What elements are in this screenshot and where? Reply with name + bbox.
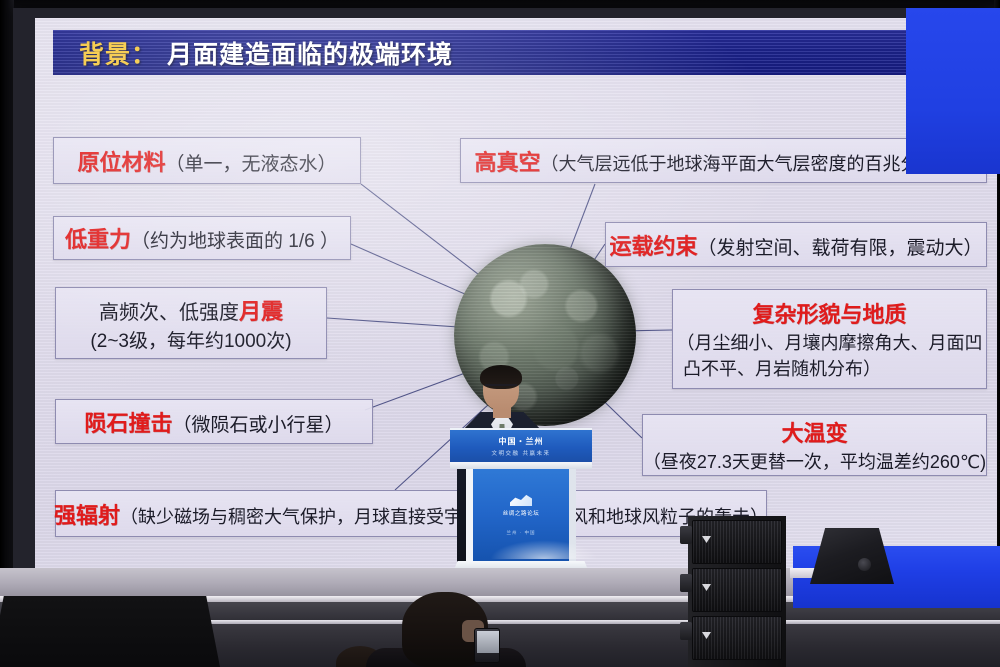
audience-silhouette — [0, 596, 220, 667]
callout-strong-radiation: 强辐射（缺少磁场与稠密大气保护，月球直接受宇宙射线、太阳风和地球风粒子的轰击） — [55, 490, 767, 537]
callout-detail: （约为地球表面的 1/6 ） — [131, 231, 339, 252]
speaker-rigging — [680, 622, 692, 640]
callout-line-prefix: 高频次、低强度 — [99, 302, 239, 324]
podium-top-line-1: 中国・兰州 — [499, 436, 544, 447]
podium-front-panel: 丝绸之路论坛 兰州 · 中国 — [466, 469, 576, 563]
forum-logo-icon — [510, 493, 532, 506]
podium: 中国・兰州 文明交融 共赢未来 丝绸之路论坛 兰州 · 中国 — [450, 428, 592, 578]
line-array-speaker — [688, 516, 786, 667]
callout-line-2: (2~3级，每年约1000次) — [90, 326, 291, 353]
callout-keyword: 大温变 — [781, 416, 847, 448]
callout-keyword: 原位材料 — [77, 150, 165, 175]
callout-keyword: 高真空 — [474, 150, 540, 175]
audience-phone — [474, 628, 500, 663]
speaker-cabinet — [692, 520, 782, 564]
glasses-icon — [485, 384, 517, 392]
callout-keyword: 月震 — [239, 299, 283, 324]
callout-line-2: （月尘细小、月壤内摩擦角大、月面凹 — [677, 329, 983, 355]
callout-detail: （微陨石或小行星） — [173, 415, 344, 436]
callout-keyword: 运载约束 — [609, 234, 697, 259]
callout-keyword: 低重力 — [65, 227, 131, 252]
podium-top-line-2: 文明交融 共赢未来 — [491, 449, 550, 457]
callout-keyword: 强辐射 — [54, 503, 120, 528]
podium-top-panel: 中国・兰州 文明交融 共赢未来 — [450, 428, 592, 462]
podium-glow — [491, 533, 597, 559]
callout-meteorite-impact: 陨石撞击（微陨石或小行星） — [55, 399, 373, 444]
left-wall-shadow — [0, 0, 14, 600]
callout-launch-constraint: 运载约束（发射空间、载荷有限，震动大） — [605, 222, 987, 267]
callout-in-situ-material: 原位材料（单一，无液态水） — [53, 137, 361, 184]
phone-screen — [477, 631, 499, 653]
callout-line-2: （昼夜27.3天更替一次，平均温差约260℃) — [643, 448, 986, 474]
callout-keyword: 陨石撞击 — [84, 411, 172, 436]
speaker-cabinet — [692, 616, 782, 660]
speaker-rigging — [680, 526, 692, 544]
conference-stage-photo: 背景： 月面建造面临的极端环境 — [0, 0, 1000, 667]
speaker-rigging — [680, 574, 692, 592]
podium-logo-text: 丝绸之路论坛 — [503, 509, 540, 517]
callout-detail: （缺少磁场与稠密大气保护，月球直接受宇宙射线、太阳风和地球风粒子的轰击） — [120, 507, 768, 527]
speaker-driver-icon — [858, 558, 871, 571]
podium-shelf — [450, 462, 592, 469]
callout-low-gravity: 低重力（约为地球表面的 1/6 ） — [53, 216, 351, 260]
led-wall-panel-upper — [906, 8, 1000, 174]
callout-moonquake: 高频次、低强度月震 (2~3级，每年约1000次) — [55, 287, 327, 359]
callout-keyword: 复杂形貌与地质 — [752, 297, 906, 329]
callout-complex-terrain-geology: 复杂形貌与地质 （月尘细小、月壤内摩擦角大、月面凹 凸不平、月岩随机分布） — [672, 289, 987, 389]
speaker-cabinet — [692, 568, 782, 612]
callout-line-3: 凸不平、月岩随机分布） — [683, 355, 881, 381]
callout-large-temperature-variation: 大温变 （昼夜27.3天更替一次，平均温差约260℃) — [642, 414, 987, 476]
callout-detail: （发射空间、载荷有限，震动大） — [698, 238, 983, 259]
callout-detail: （单一，无液态水） — [166, 154, 337, 175]
